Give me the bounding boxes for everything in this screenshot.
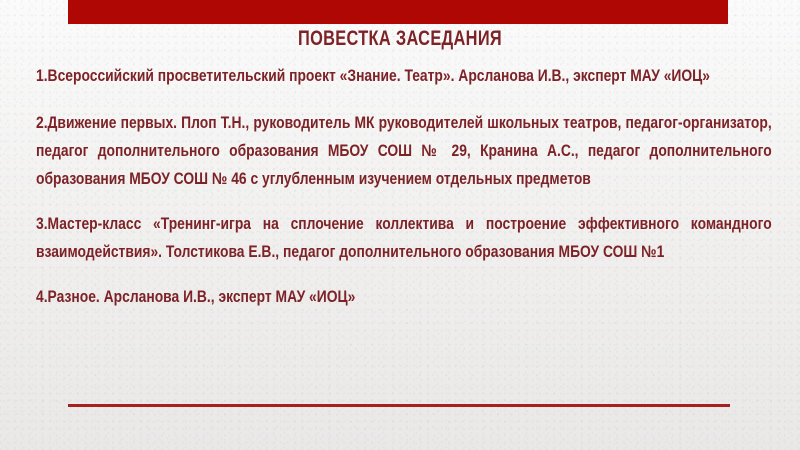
bottom-divider bbox=[68, 404, 730, 407]
presentation-slide: ПОВЕСТКА ЗАСЕДАНИЯ 1.Всероссийский просв… bbox=[0, 0, 800, 450]
agenda-item-3: 3.Мастер-класс «Тренинг-игра на сплочени… bbox=[36, 210, 772, 266]
top-red-banner bbox=[68, 0, 728, 24]
agenda-item-4: 4.Разное. Арсланова И.В., эксперт МАУ «И… bbox=[36, 283, 772, 311]
agenda-item-1: 1.Всероссийский просветительский проект … bbox=[36, 62, 772, 90]
agenda-item-2: 2.Движение первых. Плоп Т.Н., руководите… bbox=[36, 109, 772, 193]
page-title: ПОВЕСТКА ЗАСЕДАНИЯ bbox=[88, 27, 712, 51]
agenda-list: 1.Всероссийский просветительский проект … bbox=[36, 62, 772, 311]
